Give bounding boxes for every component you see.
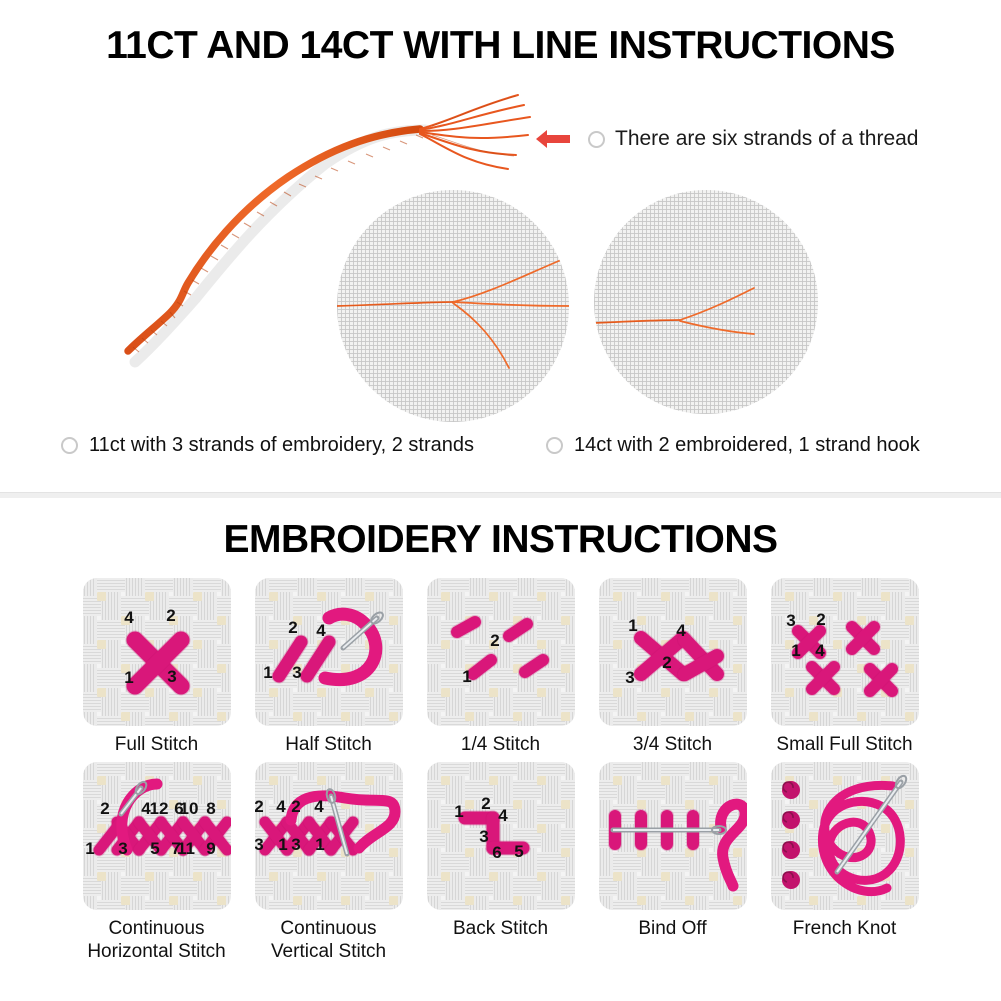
svg-text:4: 4 [498,806,508,825]
stitch-cell-half-stitch[interactable]: 2413 Half Stitch [255,578,403,756]
caption-14ct-text: 14ct with 2 embroidered, 1 strand hook [574,434,920,457]
svg-text:2: 2 [662,653,671,672]
svg-text:3: 3 [479,827,488,846]
svg-text:3: 3 [118,839,127,858]
ring-bullet-icon [546,437,563,454]
stitch-cell-small-full-stitch[interactable]: 3214 Small Full Stitch [771,578,919,756]
stitch-grid: 4213 Full Stitch 2413 Half Stitch [0,578,1001,963]
fabric-circle-14ct [594,190,818,414]
svg-text:3: 3 [625,668,634,687]
svg-text:2: 2 [291,797,300,816]
stitch-label-half-stitch: Half Stitch [285,733,372,756]
svg-text:2: 2 [490,631,499,650]
svg-text:2: 2 [481,794,490,813]
stitch-label-back-stitch: Back Stitch [453,917,548,940]
stitch-diagram-three-quarter-stitch[interactable]: 1423 [599,578,747,726]
stitch-diagram-continuous-horizontal-stitch[interactable]: 241261081357119 [83,762,231,910]
stitch-diagram-half-stitch[interactable]: 2413 [255,578,403,726]
three-quarter-stitch-svg: 1423 [599,578,747,726]
svg-text:3: 3 [786,611,795,630]
arrow-left-icon [534,126,572,152]
half-stitch-svg: 2413 [255,578,403,726]
svg-text:10: 10 [179,799,198,818]
continuous-horizontal-stitch-svg: 241261081357119 [83,762,231,910]
stitch-label-french-knot: French Knot [793,917,897,940]
caption-11ct: 11ct with 3 strands of embroidery, 2 str… [55,431,474,459]
stitch-label-small-full-stitch: Small Full Stitch [776,733,912,756]
svg-text:11: 11 [177,839,195,858]
strands-11ct-illustration [337,190,569,422]
stitch-label-bind-off: Bind Off [638,917,706,940]
svg-text:3: 3 [291,835,300,854]
svg-text:2: 2 [166,606,175,625]
stitch-label-continuous-vertical-stitch: Continuous Vertical Stitch [271,917,386,963]
stitch-cell-bind-off[interactable]: Bind Off [599,762,747,963]
svg-text:1: 1 [85,839,94,858]
svg-text:2: 2 [255,797,264,816]
svg-text:3: 3 [167,667,176,686]
french-knot-svg [771,762,919,910]
stitch-diagram-back-stitch[interactable]: 124365 [427,762,575,910]
svg-text:4: 4 [124,608,134,627]
svg-text:1: 1 [315,835,324,854]
page-title-embroidery: EMBROIDERY INSTRUCTIONS [0,518,1001,562]
stitch-cell-quarter-stitch[interactable]: 21 1/4 Stitch [427,578,575,756]
svg-text:1: 1 [791,641,800,660]
stitch-cell-continuous-vertical-stitch[interactable]: 24243131 Continuous Vertical Stitch [255,762,403,963]
stitch-cell-back-stitch[interactable]: 124365 Back Stitch [427,762,575,963]
fabric-circle-11ct [337,190,569,422]
stitch-cell-full-stitch[interactable]: 4213 Full Stitch [83,578,231,756]
stitch-diagram-full-stitch[interactable]: 4213 [83,578,231,726]
full-stitch-svg: 4213 [83,578,231,726]
stitch-diagram-small-full-stitch[interactable]: 3214 [771,578,919,726]
svg-text:4: 4 [276,797,286,816]
svg-text:1: 1 [462,667,471,686]
svg-text:4: 4 [314,797,324,816]
svg-text:1: 1 [454,802,463,821]
bind-off-svg [599,762,747,910]
ring-bullet-icon [588,131,605,148]
stitch-cell-three-quarter-stitch[interactable]: 1423 3/4 Stitch [599,578,747,756]
continuous-vertical-stitch-svg: 24243131 [255,762,403,910]
strands-14ct-illustration [594,190,818,414]
svg-text:4: 4 [676,621,686,640]
svg-text:1: 1 [124,668,133,687]
svg-text:3: 3 [255,835,264,854]
stitch-cell-french-knot[interactable]: French Knot [771,762,919,963]
svg-text:2: 2 [100,799,109,818]
stitch-label-continuous-horizontal-stitch: Continuous Horizontal Stitch [87,917,225,963]
stitch-label-three-quarter-stitch: 3/4 Stitch [633,733,712,756]
svg-text:3: 3 [292,663,301,682]
svg-text:1: 1 [628,616,637,635]
six-strands-callout: There are six strands of a thread [534,124,919,154]
svg-text:2: 2 [816,610,825,629]
svg-text:1: 1 [278,835,287,854]
stitch-diagram-continuous-vertical-stitch[interactable]: 24243131 [255,762,403,910]
stitch-label-quarter-stitch: 1/4 Stitch [461,733,540,756]
six-strands-text: There are six strands of a thread [615,127,919,151]
page-title-line-instructions: 11CT AND 14CT WITH LINE INSTRUCTIONS [0,24,1001,68]
small-full-stitch-svg: 3214 [771,578,919,726]
svg-text:8: 8 [206,799,215,818]
embroidery-instructions-section: EMBROIDERY INSTRUCTIONS 4213 Full Stitch [0,498,1001,1001]
back-stitch-svg: 124365 [427,762,575,910]
stitch-row: 4213 Full Stitch 2413 Half Stitch [0,578,1001,756]
svg-text:5: 5 [150,839,159,858]
caption-14ct: 14ct with 2 embroidered, 1 strand hook [540,431,920,459]
ring-bullet-icon [61,437,78,454]
svg-text:12: 12 [149,799,168,818]
svg-text:1: 1 [263,663,272,682]
svg-text:6: 6 [492,843,501,862]
stitch-diagram-bind-off[interactable] [599,762,747,910]
line-instructions-section: 11CT AND 14CT WITH LINE INSTRUCTIONS [0,0,1001,492]
svg-text:4: 4 [316,621,326,640]
svg-text:2: 2 [288,618,297,637]
stitch-row: 241261081357119 Continuous Horizontal St… [0,762,1001,963]
stitch-label-full-stitch: Full Stitch [115,733,198,756]
quarter-stitch-svg: 21 [427,578,575,726]
stitch-diagram-quarter-stitch[interactable]: 21 [427,578,575,726]
stitch-cell-continuous-horizontal-stitch[interactable]: 241261081357119 Continuous Horizontal St… [83,762,231,963]
svg-text:5: 5 [514,842,523,861]
svg-text:4: 4 [815,641,825,660]
stitch-diagram-french-knot[interactable] [771,762,919,910]
caption-11ct-text: 11ct with 3 strands of embroidery, 2 str… [89,434,474,457]
svg-text:9: 9 [206,839,215,858]
